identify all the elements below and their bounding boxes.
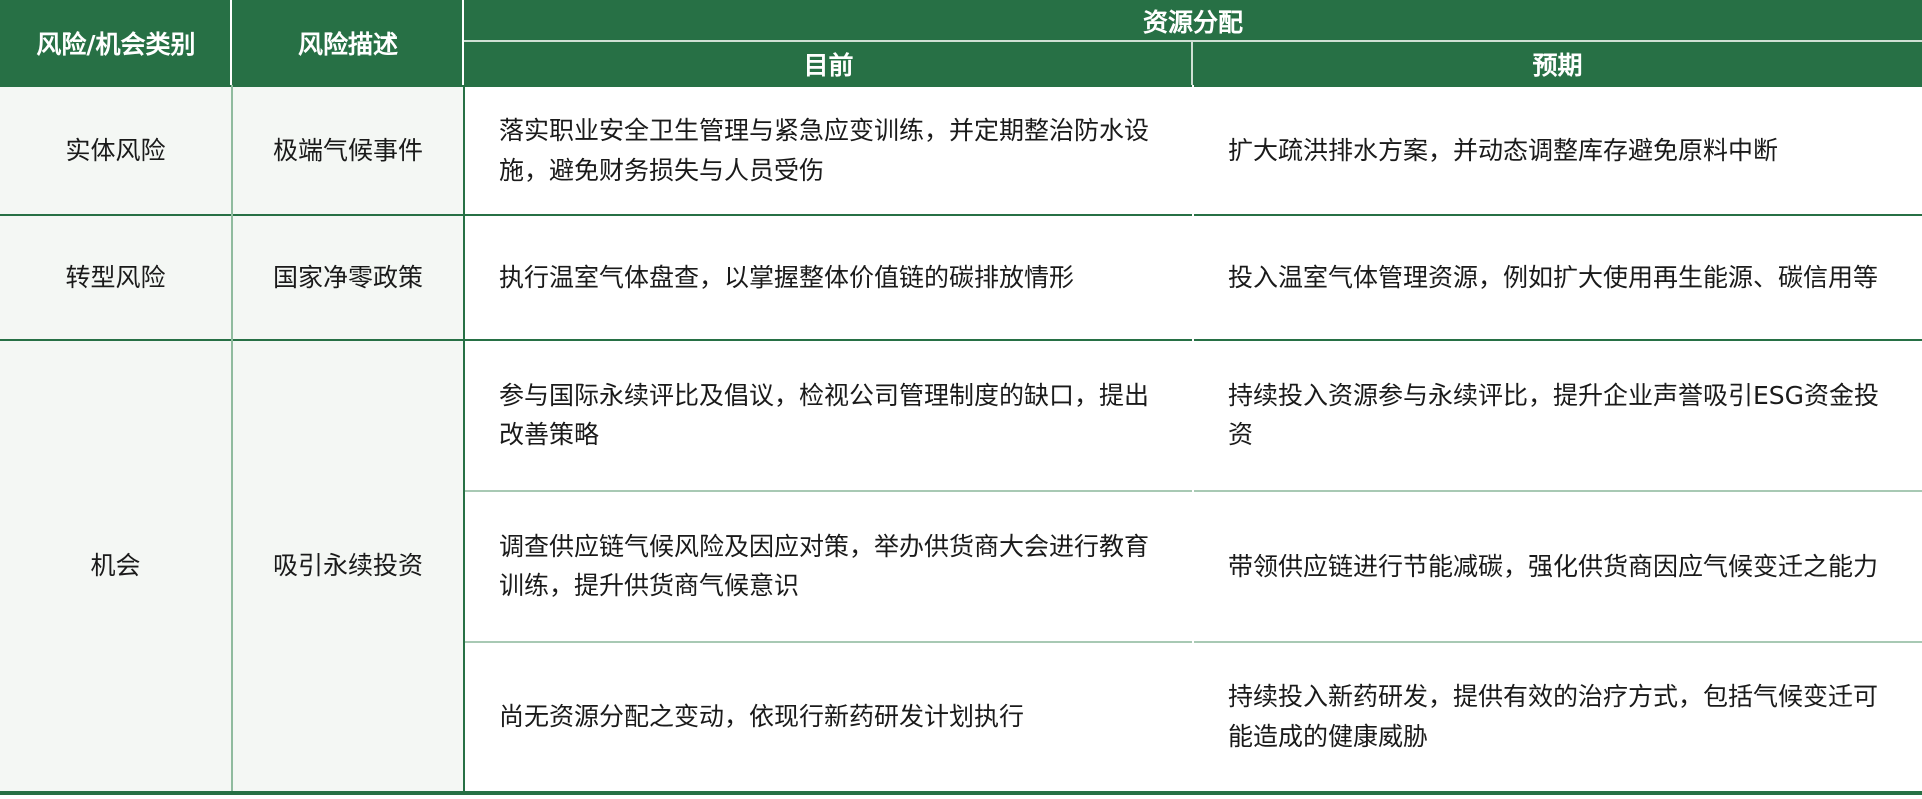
cell-category: 机会 <box>0 340 232 793</box>
header-risk-opportunity-category: 风险/机会类别 <box>0 0 232 86</box>
bottom-border <box>0 793 1922 799</box>
table-row: 机会 吸引永续投资 参与国际永续评比及倡议，检视公司管理制度的缺口，提出改善策略… <box>0 340 1922 491</box>
cell-expected: 持续投入新药研发，提供有效的治疗方式，包括气候变迁可能造成的健康威胁 <box>1193 642 1922 793</box>
cell-category: 实体风险 <box>0 86 232 215</box>
table-header: 风险/机会类别 风险描述 资源分配 目前 预期 <box>0 0 1922 86</box>
cell-category: 转型风险 <box>0 215 232 340</box>
resource-allocation-table-container: 风险/机会类别 风险描述 资源分配 目前 预期 实体风险 极端气候事件 落实职业… <box>0 0 1922 799</box>
header-current: 目前 <box>464 42 1193 86</box>
cell-expected: 持续投入资源参与永续评比，提升企业声誉吸引ESG资金投资 <box>1193 340 1922 491</box>
cell-description: 国家净零政策 <box>232 215 464 340</box>
cell-expected: 带领供应链进行节能减碳，强化供货商因应气候变迁之能力 <box>1193 491 1922 642</box>
cell-expected: 扩大疏洪排水方案，并动态调整库存避免原料中断 <box>1193 86 1922 215</box>
table-row: 实体风险 极端气候事件 落实职业安全卫生管理与紧急应变训练，并定期整治防水设施，… <box>0 86 1922 215</box>
header-risk-description: 风险描述 <box>232 0 464 86</box>
cell-current: 落实职业安全卫生管理与紧急应变训练，并定期整治防水设施，避免财务损失与人员受伤 <box>464 86 1193 215</box>
cell-current: 调查供应链气候风险及因应对策，举办供货商大会进行教育训练，提升供货商气候意识 <box>464 491 1193 642</box>
cell-description: 吸引永续投资 <box>232 340 464 793</box>
table-row: 转型风险 国家净零政策 执行温室气体盘查，以掌握整体价值链的碳排放情形 投入温室… <box>0 215 1922 340</box>
risk-opportunity-resource-table: 风险/机会类别 风险描述 资源分配 目前 预期 实体风险 极端气候事件 落实职业… <box>0 0 1922 799</box>
header-expected: 预期 <box>1193 42 1922 86</box>
header-resource-allocation: 资源分配 <box>464 0 1922 42</box>
cell-description: 极端气候事件 <box>232 86 464 215</box>
table-bottom-rule <box>0 793 1922 799</box>
cell-current: 尚无资源分配之变动，依现行新药研发计划执行 <box>464 642 1193 793</box>
cell-expected: 投入温室气体管理资源，例如扩大使用再生能源、碳信用等 <box>1193 215 1922 340</box>
table-body: 实体风险 极端气候事件 落实职业安全卫生管理与紧急应变训练，并定期整治防水设施，… <box>0 86 1922 793</box>
cell-current: 执行温室气体盘查，以掌握整体价值链的碳排放情形 <box>464 215 1193 340</box>
cell-current: 参与国际永续评比及倡议，检视公司管理制度的缺口，提出改善策略 <box>464 340 1193 491</box>
